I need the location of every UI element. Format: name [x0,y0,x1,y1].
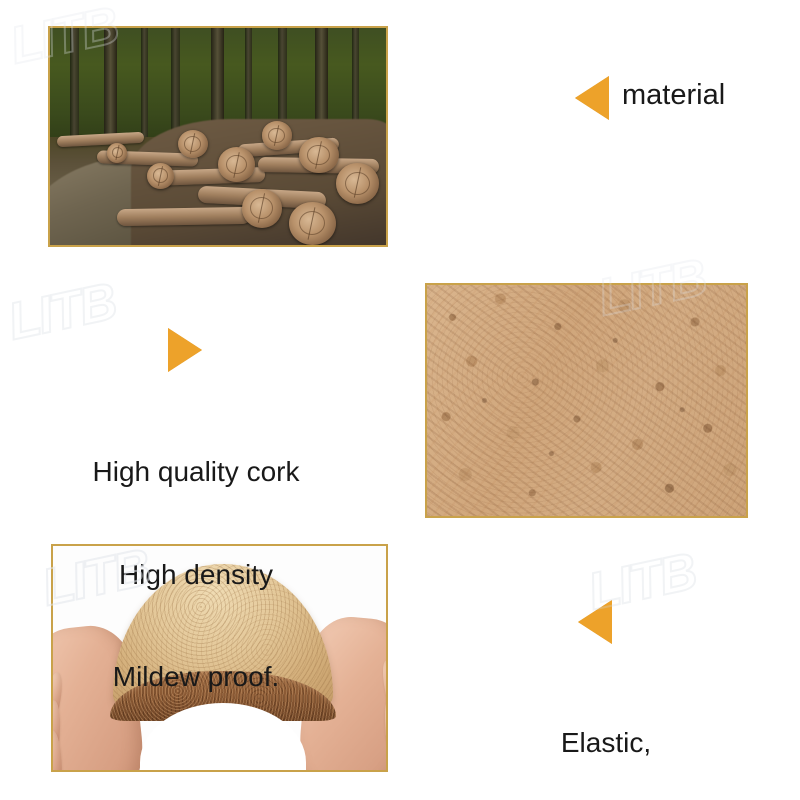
log [117,207,252,227]
quality-caption: High quality cork High density Mildew pr… [93,387,300,763]
quality-caption-line-3: Mildew proof. [93,660,300,694]
triangle-left-icon [575,76,609,120]
triangle-right-icon [168,328,202,372]
log-end-face [242,189,282,228]
material-photo-frame [48,26,388,247]
cork-texture-photo [427,285,746,516]
finger [379,659,388,711]
log-end-face [178,130,208,158]
quality-caption-line-1: High quality cork [93,455,300,489]
cork-grain-overlay [427,285,746,516]
log-end-face [218,147,255,182]
cork-texture-photo-frame [425,283,748,518]
watermark-logo: LITB [3,271,121,352]
elastic-caption-line-1: Elastic, [499,726,714,760]
finger [51,729,62,772]
product-infographic: LITB LITB LITB LITB LITB [0,0,800,800]
log-end-face [336,163,380,204]
quality-caption-line-2: High density [93,558,300,592]
finger [383,692,388,748]
elastic-caption: Elastic, not easy to break [499,658,714,800]
log-end-face [147,163,174,189]
material-caption: material [622,78,725,113]
log-end-face [299,137,339,174]
log-end-face [289,202,336,245]
log-end-face [107,143,127,163]
triangle-left-icon [578,600,612,644]
log-end-face [262,121,292,149]
forest-logs-photo [50,28,386,245]
